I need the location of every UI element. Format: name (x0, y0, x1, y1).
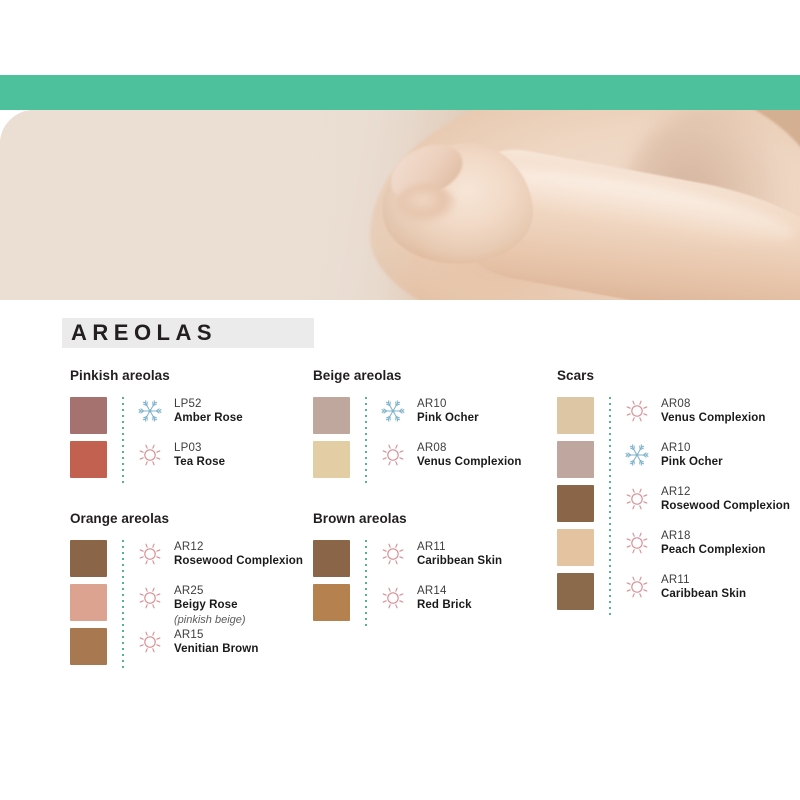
column-right: ScarsAR08Venus ComplexionAR10Pink OcherA… (557, 368, 800, 643)
color-name: Pink Ocher (661, 455, 723, 470)
sun-icon (381, 586, 405, 610)
swatch-row[interactable]: AR10Pink Ocher (313, 397, 558, 441)
sun-icon (625, 399, 649, 423)
group-heading: Brown areolas (313, 511, 558, 526)
sun-icon (381, 443, 405, 467)
swatch-labels: AR10Pink Ocher (661, 441, 723, 470)
swatch-row[interactable]: AR25Beigy Rose(pinkish beige) (70, 584, 315, 628)
color-code: AR11 (417, 540, 502, 554)
swatch-row[interactable]: AR12Rosewood Complexion (70, 540, 315, 584)
color-code: AR15 (174, 628, 258, 642)
snowflake-icon (625, 443, 649, 467)
color-swatch[interactable] (70, 441, 107, 478)
color-swatch[interactable] (70, 397, 107, 434)
swatch-labels: AR11Caribbean Skin (417, 540, 502, 569)
photo-left-fade (0, 110, 420, 300)
swatch-labels: AR11Caribbean Skin (661, 573, 746, 602)
color-swatch[interactable] (557, 573, 594, 610)
group-rows: AR08Venus ComplexionAR10Pink OcherAR12Ro… (557, 397, 800, 617)
color-name: Amber Rose (174, 411, 243, 426)
color-name: Caribbean Skin (417, 554, 502, 569)
group-rows: LP52Amber RoseLP03Tea Rose (70, 397, 315, 485)
color-code: AR10 (417, 397, 479, 411)
color-name: Red Brick (417, 598, 472, 613)
group-scars: ScarsAR08Venus ComplexionAR10Pink OcherA… (557, 368, 800, 617)
color-name: Venitian Brown (174, 642, 258, 657)
swatch-labels: LP52Amber Rose (174, 397, 243, 426)
color-code: AR18 (661, 529, 766, 543)
top-white-strip (0, 0, 800, 75)
color-code: AR08 (661, 397, 765, 411)
swatch-row[interactable]: LP52Amber Rose (70, 397, 315, 441)
color-code: LP03 (174, 441, 225, 455)
sun-icon (625, 575, 649, 599)
swatch-row[interactable]: LP03Tea Rose (70, 441, 315, 485)
group-orange-areolas: Orange areolasAR12Rosewood ComplexionAR2… (70, 511, 315, 672)
color-swatch[interactable] (557, 529, 594, 566)
group-heading: Pinkish areolas (70, 368, 315, 383)
color-swatch[interactable] (557, 397, 594, 434)
color-code: LP52 (174, 397, 243, 411)
teal-accent-bar (0, 75, 800, 110)
color-name: Peach Complexion (661, 543, 766, 558)
swatch-labels: LP03Tea Rose (174, 441, 225, 470)
group-heading: Orange areolas (70, 511, 315, 526)
swatch-row[interactable]: AR10Pink Ocher (557, 441, 800, 485)
color-code: AR08 (417, 441, 521, 455)
color-code: AR25 (174, 584, 246, 598)
sun-icon (138, 630, 162, 654)
snowflake-icon (381, 399, 405, 423)
swatch-labels: AR08Venus Complexion (417, 441, 521, 470)
swatch-row[interactable]: AR12Rosewood Complexion (557, 485, 800, 529)
color-code: AR12 (661, 485, 790, 499)
swatch-labels: AR10Pink Ocher (417, 397, 479, 426)
color-swatch[interactable] (70, 540, 107, 577)
swatch-row[interactable]: AR11Caribbean Skin (557, 573, 800, 617)
sun-icon (138, 443, 162, 467)
color-code: AR10 (661, 441, 723, 455)
sun-icon (625, 487, 649, 511)
color-swatch[interactable] (313, 441, 350, 478)
sun-icon (138, 542, 162, 566)
sun-icon (138, 586, 162, 610)
header-banner (0, 0, 800, 300)
swatch-row[interactable]: AR08Venus Complexion (313, 441, 558, 485)
swatch-labels: AR14Red Brick (417, 584, 472, 613)
color-name: Venus Complexion (661, 411, 765, 426)
group-brown-areolas: Brown areolasAR11Caribbean SkinAR14Red B… (313, 511, 558, 628)
color-swatch[interactable] (70, 584, 107, 621)
color-name: Rosewood Complexion (661, 499, 790, 514)
color-name: Venus Complexion (417, 455, 521, 470)
color-code: AR11 (661, 573, 746, 587)
color-name: Beigy Rose (174, 598, 246, 613)
group-rows: AR12Rosewood ComplexionAR25Beigy Rose(pi… (70, 540, 315, 672)
swatch-row[interactable]: AR18Peach Complexion (557, 529, 800, 573)
page-title-band: AREOLAS (62, 318, 314, 348)
group-heading: Scars (557, 368, 800, 383)
color-code: AR14 (417, 584, 472, 598)
swatch-labels: AR12Rosewood Complexion (661, 485, 790, 514)
group-beige-areolas: Beige areolasAR10Pink OcherAR08Venus Com… (313, 368, 558, 485)
swatch-labels: AR15Venitian Brown (174, 628, 258, 657)
swatch-row[interactable]: AR15Venitian Brown (70, 628, 315, 672)
color-swatch[interactable] (557, 485, 594, 522)
color-swatch[interactable] (313, 397, 350, 434)
color-name: Tea Rose (174, 455, 225, 470)
color-swatch[interactable] (70, 628, 107, 665)
color-note: (pinkish beige) (174, 613, 246, 627)
swatch-row[interactable]: AR08Venus Complexion (557, 397, 800, 441)
color-swatch[interactable] (313, 540, 350, 577)
color-name: Pink Ocher (417, 411, 479, 426)
snowflake-icon (138, 399, 162, 423)
swatch-row[interactable]: AR14Red Brick (313, 584, 558, 628)
swatch-row[interactable]: AR11Caribbean Skin (313, 540, 558, 584)
column-left: Pinkish areolasLP52Amber RoseLP03Tea Ros… (70, 368, 315, 698)
color-name: Caribbean Skin (661, 587, 746, 602)
swatch-labels: AR08Venus Complexion (661, 397, 765, 426)
color-swatch[interactable] (557, 441, 594, 478)
sun-icon (625, 531, 649, 555)
color-name: Rosewood Complexion (174, 554, 303, 569)
swatch-labels: AR12Rosewood Complexion (174, 540, 303, 569)
color-code: AR12 (174, 540, 303, 554)
group-heading: Beige areolas (313, 368, 558, 383)
group-rows: AR10Pink OcherAR08Venus Complexion (313, 397, 558, 485)
group-pinkish-areolas: Pinkish areolasLP52Amber RoseLP03Tea Ros… (70, 368, 315, 485)
swatch-labels: AR25Beigy Rose(pinkish beige) (174, 584, 246, 627)
swatch-labels: AR18Peach Complexion (661, 529, 766, 558)
sun-icon (381, 542, 405, 566)
group-rows: AR11Caribbean SkinAR14Red Brick (313, 540, 558, 628)
hero-photo-panel (0, 110, 800, 300)
color-swatch[interactable] (313, 584, 350, 621)
column-middle: Beige areolasAR10Pink OcherAR08Venus Com… (313, 368, 558, 654)
page-title: AREOLAS (62, 320, 217, 346)
